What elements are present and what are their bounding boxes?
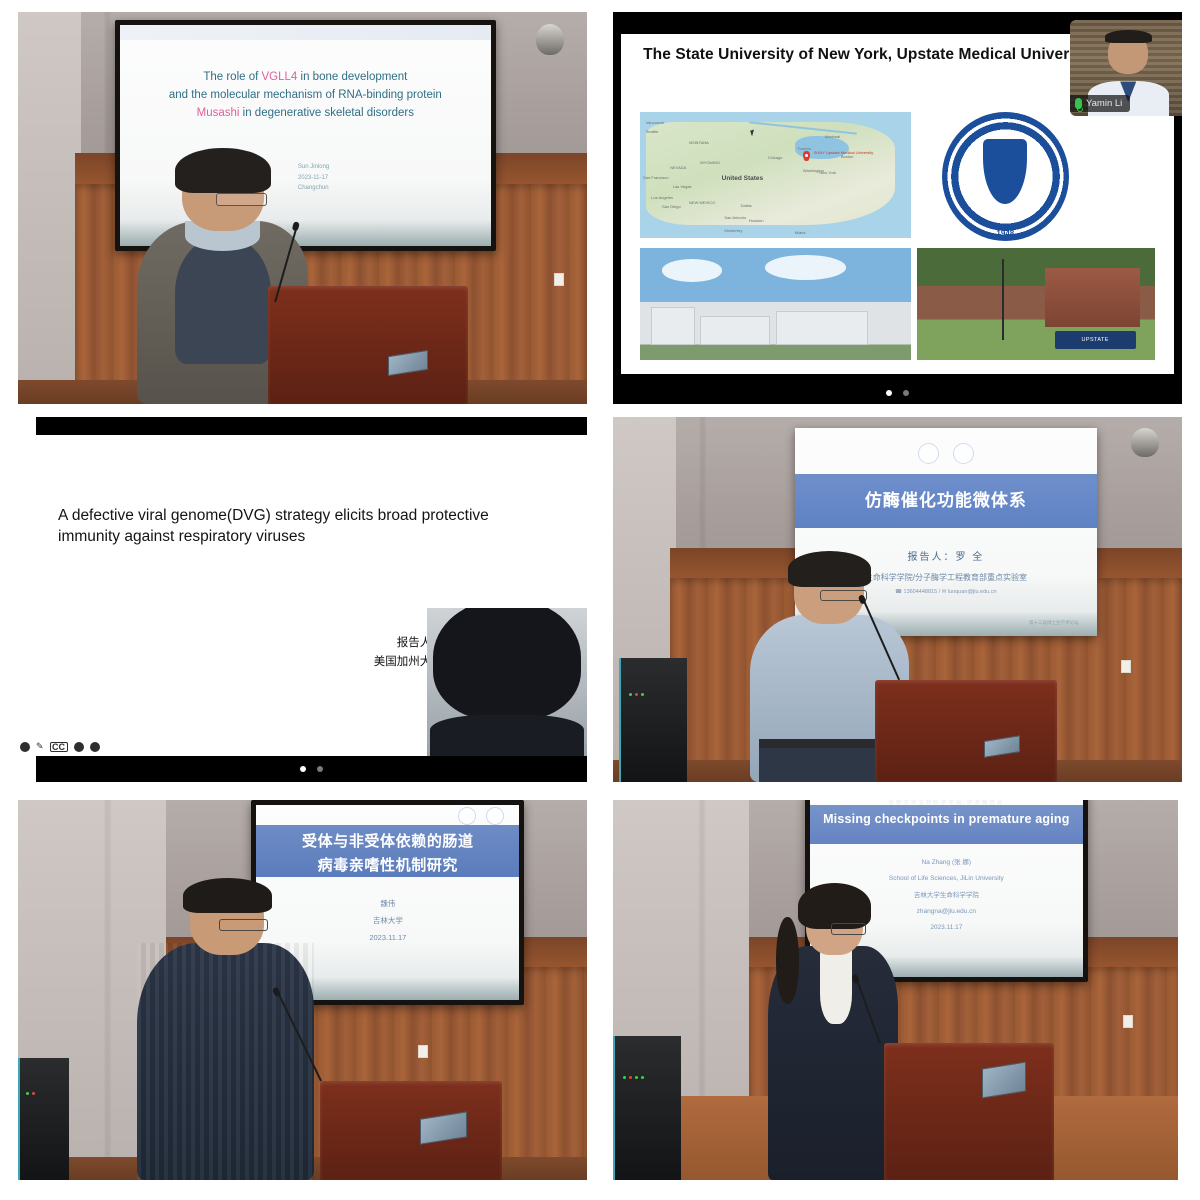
panel-3-zoom-share: A defective viral genome(DVG) strategy e… xyxy=(18,417,587,782)
podium xyxy=(268,286,467,404)
slide-title-p4: 仿酶催化功能微体系 xyxy=(795,486,1097,511)
rack-status-leds xyxy=(26,1092,35,1095)
microphone-icon xyxy=(1075,98,1082,109)
campus-photo-hospital xyxy=(640,248,911,360)
campus-photo-quad: UPSTATE xyxy=(917,248,1155,360)
participant-name: Yamin Li xyxy=(1086,98,1122,109)
laptop xyxy=(982,1062,1026,1099)
panel-4-lecture-photo: 仿酶催化功能微体系 报告人：罗 全 生命科学学院/分子酶学工程教育部重点实验室 … xyxy=(613,417,1182,782)
university-logos xyxy=(458,807,504,825)
pagination-dot-2[interactable] xyxy=(317,766,323,772)
pagination-dot-1[interactable] xyxy=(886,390,892,396)
slide-title-p1: The role of VGLL4 in bone development an… xyxy=(138,69,472,122)
laptop xyxy=(984,735,1020,758)
glasses-icon xyxy=(831,923,866,935)
panel-2-zoom-share: The State University of New York, Upstat… xyxy=(613,12,1182,404)
rack-status-leds xyxy=(623,1076,644,1079)
slide-title-p2: The State University of New York, Upstat… xyxy=(643,46,1069,64)
speaker-figure xyxy=(766,891,902,1180)
lecture-hall-background: 吉林大学生命科学学院 学术报告会 Missing checkpoints in … xyxy=(613,800,1178,1180)
lecture-hall-background: 受体与非受体依赖的肠道 病毒亲嗜性机制研究 魏伟 吉林大学 2023.11.17 xyxy=(18,800,587,1180)
campus-sign: UPSTATE xyxy=(1055,331,1136,349)
podium xyxy=(320,1081,502,1180)
suny-seal-logo: 1948 xyxy=(942,112,1069,241)
wall-socket xyxy=(418,1045,428,1058)
webcam-tile-yamin-li[interactable]: Yamin Li xyxy=(1070,20,1182,116)
lecture-hall-background: The role of VGLL4 in bone development an… xyxy=(18,12,587,404)
laptop xyxy=(388,350,428,376)
participant-nametag: Yamin Li xyxy=(1070,95,1130,112)
photo-collage: The role of VGLL4 in bone development an… xyxy=(0,0,1200,1200)
zoom-top-bar xyxy=(36,417,587,435)
more-options-icon[interactable]: ••• xyxy=(74,742,84,752)
laptop xyxy=(420,1111,467,1144)
wall-socket xyxy=(554,273,564,286)
zoom-bottom-bar xyxy=(613,374,1182,404)
pen-icon[interactable]: ✎ xyxy=(36,741,44,752)
zoom-annotation-toolbar[interactable]: ‹ ✎ CC ••• → xyxy=(20,741,100,752)
slide-title-p5: 受体与非受体依赖的肠道 病毒亲嗜性机制研究 xyxy=(267,830,509,877)
panel-6-lecture-photo: 吉林大学生命科学学院 学术报告会 Missing checkpoints in … xyxy=(613,800,1178,1180)
slide-header-strip xyxy=(120,25,491,40)
us-map-image: United States Vancouver Seattle MONTANA … xyxy=(640,112,911,238)
map-pin-label: SUNY Upstate Medical University xyxy=(814,150,874,155)
equipment-rack xyxy=(619,658,687,782)
arrow-right-icon[interactable]: → xyxy=(90,742,100,752)
equipment-rack xyxy=(18,1058,69,1180)
seal-year: 1948 xyxy=(942,229,1069,238)
glasses-icon xyxy=(216,193,267,206)
ceiling-camera-icon xyxy=(1131,428,1159,457)
slide-title-p3: A defective viral genome(DVG) strategy e… xyxy=(58,506,532,548)
slide-header-p6: 吉林大学生命科学学院 学术报告会 xyxy=(810,800,1083,806)
pagination-dot-1[interactable] xyxy=(300,766,306,772)
ceiling-camera-icon xyxy=(536,24,564,55)
equipment-rack xyxy=(613,1036,681,1180)
closed-caption-icon[interactable]: CC xyxy=(50,742,68,752)
slide-pagination-dots[interactable] xyxy=(613,390,1182,396)
map-country-label: United States xyxy=(722,175,764,182)
panel-1-lecture-photo: The role of VGLL4 in bone development an… xyxy=(18,12,587,404)
wall-socket xyxy=(1123,1015,1133,1028)
university-logos xyxy=(795,443,1097,464)
slide-title-p6: Missing checkpoints in premature aging xyxy=(821,812,1072,826)
podium xyxy=(884,1043,1054,1180)
pagination-dot-2[interactable] xyxy=(903,390,909,396)
lecture-hall-background: 仿酶催化功能微体系 报告人：罗 全 生命科学学院/分子酶学工程教育部重点实验室 … xyxy=(613,417,1182,782)
rack-status-leds xyxy=(629,693,644,696)
arrow-left-icon[interactable]: ‹ xyxy=(20,742,30,752)
panel-5-lecture-photo: 受体与非受体依赖的肠道 病毒亲嗜性机制研究 魏伟 吉林大学 2023.11.17 xyxy=(18,800,587,1180)
glasses-icon xyxy=(219,919,268,931)
wall-socket xyxy=(1121,660,1131,673)
podium xyxy=(875,680,1057,782)
zoom-bottom-bar xyxy=(36,756,587,782)
webcam-tile-presenter[interactable] xyxy=(427,608,587,756)
map-pin-icon xyxy=(803,151,810,161)
speaker-figure xyxy=(137,884,313,1180)
